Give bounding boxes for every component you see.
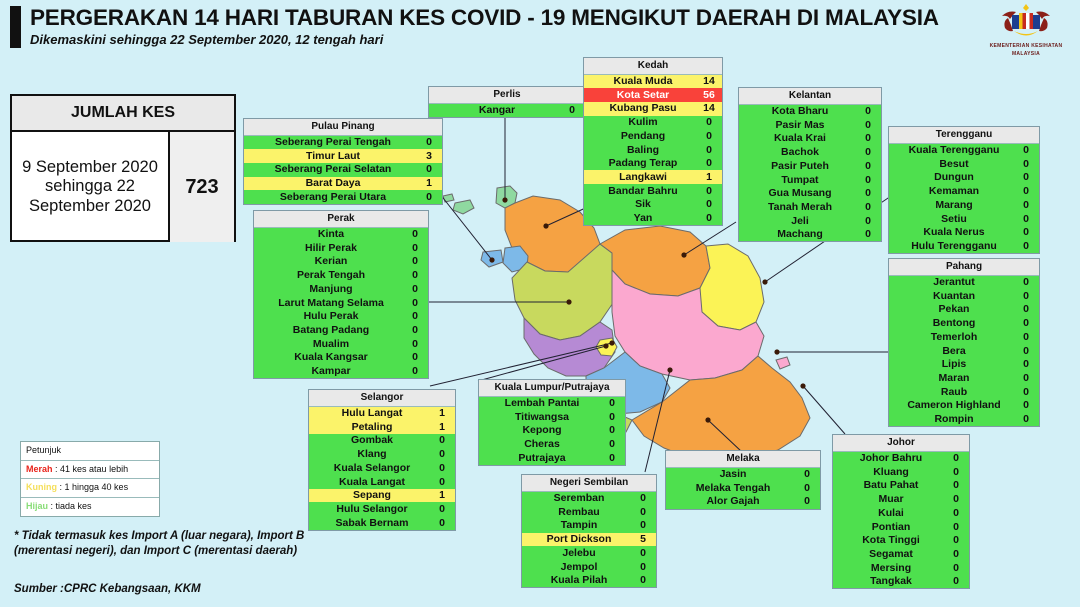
state-table-header: Perlis — [429, 87, 585, 104]
footnote-text: * Tidak termasuk kes Import A (luar nega… — [14, 529, 334, 558]
district-name: Hilir Perak — [254, 243, 402, 254]
district-case-count: 0 — [1013, 332, 1039, 343]
district-row: Padang Terap0 — [584, 157, 722, 171]
district-name: Mualim — [254, 339, 402, 350]
state-table-kuala-lumpur: Kuala Lumpur/PutrajayaLembah Pantai0Titi… — [478, 379, 626, 466]
leader-dot-pulau-pinang — [489, 257, 494, 262]
district-case-count: 0 — [943, 453, 969, 464]
district-name: Alor Gajah — [666, 496, 794, 507]
district-name: Kuala Muda — [584, 76, 696, 87]
legend-text-kuning: : 1 hingga 40 kes — [60, 482, 129, 492]
leader-dot-kuala-lumpur — [603, 343, 608, 348]
district-row: Kuala Langat0 — [309, 475, 455, 489]
district-case-count: 3 — [416, 151, 442, 162]
district-name: Yan — [584, 213, 696, 224]
district-row: Timur Laut3 — [244, 149, 442, 163]
district-case-count: 0 — [630, 575, 656, 586]
district-name: Pekan — [889, 304, 1013, 315]
district-row: Batang Padang0 — [254, 323, 428, 337]
district-name: Lipis — [889, 359, 1013, 370]
district-row: Langkawi1 — [584, 170, 722, 184]
map-region-pahang — [612, 270, 764, 380]
district-case-count: 0 — [1013, 304, 1039, 315]
district-case-count: 0 — [1013, 400, 1039, 411]
district-case-count: 0 — [429, 435, 455, 446]
district-row: Perak Tengah0 — [254, 269, 428, 283]
district-case-count: 0 — [943, 494, 969, 505]
district-case-count: 1 — [429, 422, 455, 433]
district-row: Lipis0 — [889, 358, 1039, 372]
source-text: Sumber :CPRC Kebangsaan, KKM — [14, 583, 201, 595]
district-row: Kulim0 — [584, 116, 722, 130]
district-name: Langkawi — [584, 172, 696, 183]
district-name: Jelebu — [522, 548, 630, 559]
leader-dot-pahang — [774, 349, 779, 354]
district-row: Kuala Kangsar0 — [254, 351, 428, 365]
leader-dot-perak — [566, 299, 571, 304]
district-name: Muar — [833, 494, 943, 505]
district-row: Batu Pahat0 — [833, 479, 969, 493]
district-row: Larut Matang Selama0 — [254, 296, 428, 310]
district-name: Rembau — [522, 507, 630, 518]
total-cases-title: JUMLAH KES — [12, 96, 234, 132]
district-name: Bandar Bahru — [584, 186, 696, 197]
district-row: Alor Gajah0 — [666, 495, 820, 509]
map-region-johor — [632, 356, 810, 462]
district-case-count: 0 — [943, 576, 969, 587]
leader-dot-selangor — [609, 340, 614, 345]
state-table-selangor: SelangorHulu Langat1Petaling1Gombak0Klan… — [308, 389, 456, 531]
district-case-count: 0 — [429, 463, 455, 474]
state-table-perlis: PerlisKangar0 — [428, 86, 586, 118]
state-table-terengganu: TerengganuKuala Terengganu0Besut0Dungun0… — [888, 126, 1040, 254]
district-case-count: 0 — [1013, 277, 1039, 288]
state-table-pulau-pinang: Pulau PinangSeberang Perai Tengah0Timur … — [243, 118, 443, 205]
district-name: Kemaman — [889, 186, 1013, 197]
district-row: Hulu Terengganu0 — [889, 239, 1039, 253]
district-name: Kuala Pilah — [522, 575, 630, 586]
district-row: Tangkak0 — [833, 575, 969, 589]
district-name: Maran — [889, 373, 1013, 384]
district-case-count: 1 — [416, 178, 442, 189]
leader-pulau-pinang — [436, 189, 492, 260]
district-case-count: 0 — [599, 412, 625, 423]
leader-dot-negeri-sembilan — [667, 367, 672, 372]
district-case-count: 0 — [630, 548, 656, 559]
district-case-count: 0 — [794, 496, 820, 507]
district-name: Klang — [309, 449, 429, 460]
district-case-count: 0 — [402, 284, 428, 295]
state-table-header: Melaka — [666, 451, 820, 468]
leader-melaka — [708, 420, 742, 452]
district-case-count: 0 — [943, 535, 969, 546]
district-row: Marang0 — [889, 198, 1039, 212]
district-case-count: 0 — [1013, 359, 1039, 370]
district-name: Timur Laut — [244, 151, 416, 162]
map-region-terengganu — [698, 244, 764, 330]
leader-kelantan — [684, 222, 736, 255]
district-row: Sabak Bernam0 — [309, 516, 455, 530]
district-case-count: 0 — [1013, 241, 1039, 252]
legend-swatch-merah: Merah — [26, 464, 53, 474]
district-name: Pendang — [584, 131, 696, 142]
district-name: Kuala Langat — [309, 477, 429, 488]
district-row: Muar0 — [833, 493, 969, 507]
district-row: Jelebu0 — [522, 546, 656, 560]
district-case-count: 0 — [855, 216, 881, 227]
district-name: Rompin — [889, 414, 1013, 425]
legend-text-hijau: : tiada kes — [51, 501, 92, 511]
district-case-count: 0 — [402, 270, 428, 281]
district-row: Kota Setar56 — [584, 88, 722, 102]
district-row: Seremban0 — [522, 492, 656, 506]
legend-title: Petunjuk — [21, 442, 159, 461]
district-case-count: 0 — [402, 339, 428, 350]
district-row: Kerian0 — [254, 255, 428, 269]
district-name: Kuala Nerus — [889, 227, 1013, 238]
district-case-count: 0 — [943, 480, 969, 491]
total-cases-value: 723 — [168, 132, 234, 242]
district-name: Petaling — [309, 422, 429, 433]
legend-item-kuning: Kuning : 1 hingga 40 kes — [21, 479, 159, 498]
district-case-count: 0 — [1013, 414, 1039, 425]
district-case-count: 0 — [416, 192, 442, 203]
state-table-melaka: MelakaJasin0Melaka Tengah0Alor Gajah0 — [665, 450, 821, 510]
legend-box: Petunjuk Merah : 41 kes atau lebih Kunin… — [20, 441, 160, 517]
district-case-count: 14 — [696, 76, 722, 87]
legend-swatch-kuning: Kuning — [26, 482, 57, 492]
district-case-count: 0 — [943, 549, 969, 560]
district-case-count: 0 — [402, 352, 428, 363]
district-row: Putrajaya0 — [479, 451, 625, 465]
district-name: Raub — [889, 387, 1013, 398]
district-case-count: 0 — [402, 256, 428, 267]
district-name: Jempol — [522, 562, 630, 573]
district-case-count: 0 — [1013, 373, 1039, 384]
district-row: Melaka Tengah0 — [666, 481, 820, 495]
district-row: Tampin0 — [522, 519, 656, 533]
leader-dot-kedah — [543, 223, 548, 228]
district-row: Rompin0 — [889, 412, 1039, 426]
district-name: Sabak Bernam — [309, 518, 429, 529]
district-case-count: 0 — [630, 562, 656, 573]
district-name: Hulu Perak — [254, 311, 402, 322]
district-name: Batu Pahat — [833, 480, 943, 491]
legend-item-hijau: Hijau : tiada kes — [21, 498, 159, 516]
district-name: Lembah Pantai — [479, 398, 599, 409]
district-row: Kota Tinggi0 — [833, 534, 969, 548]
district-row: Kota Bharu0 — [739, 105, 881, 119]
district-row: Jeli0 — [739, 214, 881, 228]
district-name: Hulu Selangor — [309, 504, 429, 515]
district-row: Cameron Highland0 — [889, 399, 1039, 413]
district-name: Jeli — [739, 216, 855, 227]
moh-malaysia-emblem: KEMENTERIAN KESIHATAN MALAYSIA — [978, 2, 1074, 58]
district-case-count: 0 — [1013, 186, 1039, 197]
district-name: Kulim — [584, 117, 696, 128]
map-region-pulau-pinang — [503, 246, 528, 272]
district-case-count: 5 — [630, 534, 656, 545]
district-row: Seberang Perai Selatan0 — [244, 163, 442, 177]
district-row: Manjung0 — [254, 282, 428, 296]
district-row: Bentong0 — [889, 317, 1039, 331]
emblem-caption-line2: MALAYSIA — [1012, 51, 1040, 58]
district-case-count: 0 — [943, 508, 969, 519]
district-row: Temerloh0 — [889, 330, 1039, 344]
district-name: Seberang Perai Selatan — [244, 164, 416, 175]
district-name: Kota Tinggi — [833, 535, 943, 546]
district-row: Mualim0 — [254, 337, 428, 351]
district-row: Kubang Pasu14 — [584, 102, 722, 116]
district-case-count: 1 — [429, 490, 455, 501]
district-row: Kangar0 — [429, 104, 585, 118]
state-table-header: Johor — [833, 435, 969, 452]
district-name: Marang — [889, 200, 1013, 211]
district-row: Cheras0 — [479, 438, 625, 452]
district-name: Setiu — [889, 214, 1013, 225]
map-region-selangor — [524, 318, 615, 376]
district-row: Bera0 — [889, 344, 1039, 358]
district-case-count: 0 — [429, 504, 455, 515]
district-case-count: 0 — [696, 186, 722, 197]
state-table-kelantan: KelantanKota Bharu0Pasir Mas0Kuala Krai0… — [738, 87, 882, 242]
state-table-kedah: KedahKuala Muda14Kota Setar56Kubang Pasu… — [583, 57, 723, 226]
district-case-count: 0 — [599, 453, 625, 464]
district-case-count: 0 — [943, 467, 969, 478]
district-row: Setiu0 — [889, 212, 1039, 226]
district-row: Seberang Perai Tengah0 — [244, 136, 442, 150]
district-name: Port Dickson — [522, 534, 630, 545]
district-name: Kubang Pasu — [584, 103, 696, 114]
district-row: Bachok0 — [739, 146, 881, 160]
leader-dot-johor — [800, 383, 805, 388]
district-case-count: 0 — [1013, 145, 1039, 156]
district-row: Hulu Perak0 — [254, 310, 428, 324]
district-row: Kuantan0 — [889, 289, 1039, 303]
district-row: Kuala Pilah0 — [522, 574, 656, 588]
district-row: Petaling1 — [309, 420, 455, 434]
district-name: Kampar — [254, 366, 402, 377]
district-name: Bera — [889, 346, 1013, 357]
district-name: Bentong — [889, 318, 1013, 329]
district-case-count: 0 — [696, 158, 722, 169]
district-name: Barat Daya — [244, 178, 416, 189]
page-title: PERGERAKAN 14 HARI TABURAN KES COVID - 1… — [30, 5, 939, 31]
district-name: Padang Terap — [584, 158, 696, 169]
district-case-count: 0 — [429, 518, 455, 529]
district-case-count: 0 — [1013, 346, 1039, 357]
district-name: Cameron Highland — [889, 400, 1013, 411]
district-name: Kluang — [833, 467, 943, 478]
total-cases-box: JUMLAH KES 9 September 2020 sehingga 22 … — [10, 94, 236, 242]
district-case-count: 1 — [429, 408, 455, 419]
district-case-count: 0 — [943, 522, 969, 533]
district-row: Barat Daya1 — [244, 177, 442, 191]
district-row: Seberang Perai Utara0 — [244, 190, 442, 204]
district-case-count: 0 — [1013, 214, 1039, 225]
district-name: Kota Bharu — [739, 106, 855, 117]
district-case-count: 0 — [599, 439, 625, 450]
district-name: Kuantan — [889, 291, 1013, 302]
district-case-count: 0 — [599, 398, 625, 409]
district-case-count: 0 — [855, 106, 881, 117]
district-row: Jempol0 — [522, 560, 656, 574]
district-row: Rembau0 — [522, 505, 656, 519]
district-name: Batang Padang — [254, 325, 402, 336]
district-row: Kluang0 — [833, 465, 969, 479]
district-name: Jerantut — [889, 277, 1013, 288]
district-name: Titiwangsa — [479, 412, 599, 423]
leader-kuala-lumpur — [478, 346, 606, 381]
district-row: Hilir Perak0 — [254, 241, 428, 255]
title-accent-bar — [10, 6, 21, 48]
district-name: Pontian — [833, 522, 943, 533]
district-name: Putrajaya — [479, 453, 599, 464]
district-case-count: 0 — [1013, 387, 1039, 398]
district-name: Perak Tengah — [254, 270, 402, 281]
district-case-count: 0 — [1013, 318, 1039, 329]
district-row: Kulai0 — [833, 506, 969, 520]
page-subtitle: Dikemaskini sehingga 22 September 2020, … — [30, 32, 383, 47]
state-table-header: Negeri Sembilan — [522, 475, 656, 492]
district-case-count: 0 — [855, 133, 881, 144]
district-case-count: 0 — [1013, 172, 1039, 183]
legend-text-merah: : 41 kes atau lebih — [55, 464, 128, 474]
district-name: Jasin — [666, 469, 794, 480]
leader-dot-melaka — [705, 417, 710, 422]
district-row: Besut0 — [889, 157, 1039, 171]
district-case-count: 0 — [416, 137, 442, 148]
district-row: Bandar Bahru0 — [584, 184, 722, 198]
district-case-count: 14 — [696, 103, 722, 114]
district-case-count: 0 — [416, 164, 442, 175]
state-table-header: Selangor — [309, 390, 455, 407]
district-row: Kinta0 — [254, 228, 428, 242]
district-name: Machang — [739, 229, 855, 240]
map-region-perlis — [496, 186, 517, 208]
district-row: Lembah Pantai0 — [479, 397, 625, 411]
map-region-pulau-pinang-island — [481, 250, 503, 267]
district-case-count: 0 — [1013, 200, 1039, 211]
district-name: Kuala Kangsar — [254, 352, 402, 363]
district-name: Seremban — [522, 493, 630, 504]
district-row: Klang0 — [309, 448, 455, 462]
district-row: Tanah Merah0 — [739, 200, 881, 214]
district-case-count: 0 — [794, 469, 820, 480]
district-name: Bachok — [739, 147, 855, 158]
district-name: Kerian — [254, 256, 402, 267]
district-name: Tumpat — [739, 175, 855, 186]
district-case-count: 0 — [855, 202, 881, 213]
district-case-count: 0 — [696, 145, 722, 156]
district-case-count: 0 — [855, 175, 881, 186]
state-table-header: Kelantan — [739, 88, 881, 105]
district-case-count: 0 — [794, 483, 820, 494]
map-region-kelantan — [600, 226, 710, 296]
district-case-count: 0 — [630, 493, 656, 504]
district-row: Gombak0 — [309, 434, 455, 448]
district-row: Port Dickson5 — [522, 533, 656, 547]
total-cases-body: 9 September 2020 sehingga 22 September 2… — [12, 132, 234, 242]
coat-of-arms-icon — [994, 2, 1058, 42]
district-name: Larut Matang Selama — [254, 298, 402, 309]
district-row: Yan0 — [584, 211, 722, 225]
district-case-count: 0 — [630, 507, 656, 518]
district-row: Kemaman0 — [889, 185, 1039, 199]
district-row: Machang0 — [739, 228, 881, 242]
emblem-caption-line1: KEMENTERIAN KESIHATAN — [990, 43, 1063, 50]
district-case-count: 0 — [402, 325, 428, 336]
state-table-header: Perak — [254, 211, 428, 228]
district-row: Jerantut0 — [889, 276, 1039, 290]
district-name: Kuala Krai — [739, 133, 855, 144]
district-case-count: 0 — [943, 563, 969, 574]
district-name: Temerloh — [889, 332, 1013, 343]
district-name: Kuala Selangor — [309, 463, 429, 474]
district-name: Hulu Langat — [309, 408, 429, 419]
district-case-count: 0 — [696, 117, 722, 128]
district-row: Pontian0 — [833, 520, 969, 534]
district-case-count: 0 — [855, 188, 881, 199]
district-name: Kulai — [833, 508, 943, 519]
district-name: Melaka Tengah — [666, 483, 794, 494]
legend-item-merah: Merah : 41 kes atau lebih — [21, 461, 159, 480]
district-case-count: 0 — [855, 120, 881, 131]
district-row: Titiwangsa0 — [479, 410, 625, 424]
district-case-count: 1 — [696, 172, 722, 183]
district-name: Hulu Terengganu — [889, 241, 1013, 252]
district-case-count: 0 — [1013, 159, 1039, 170]
district-row: Pendang0 — [584, 129, 722, 143]
district-case-count: 0 — [559, 105, 585, 116]
district-row: Jasin0 — [666, 468, 820, 482]
map-region-langkawi — [453, 200, 474, 214]
district-case-count: 0 — [696, 199, 722, 210]
state-table-header: Pulau Pinang — [244, 119, 442, 136]
district-row: Kuala Selangor0 — [309, 461, 455, 475]
district-name: Tanah Merah — [739, 202, 855, 213]
district-case-count: 0 — [402, 311, 428, 322]
district-name: Sepang — [309, 490, 429, 501]
district-case-count: 0 — [402, 243, 428, 254]
total-cases-period: 9 September 2020 sehingga 22 September 2… — [12, 132, 168, 242]
district-name: Kinta — [254, 229, 402, 240]
district-case-count: 0 — [402, 366, 428, 377]
leader-dot-kelantan — [681, 252, 686, 257]
district-row: Maran0 — [889, 371, 1039, 385]
district-name: Baling — [584, 145, 696, 156]
map-region-pahang-isle — [776, 357, 790, 369]
district-name: Gua Musang — [739, 188, 855, 199]
district-name: Seberang Perai Utara — [244, 192, 416, 203]
district-name: Pasir Puteh — [739, 161, 855, 172]
district-name: Kangar — [429, 105, 559, 116]
district-case-count: 0 — [599, 425, 625, 436]
district-case-count: 0 — [1013, 291, 1039, 302]
leader-dot-perlis — [502, 197, 507, 202]
district-name: Manjung — [254, 284, 402, 295]
district-name: Besut — [889, 159, 1013, 170]
district-name: Kota Setar — [584, 90, 696, 101]
district-row: Hulu Langat1 — [309, 407, 455, 421]
district-case-count: 0 — [855, 147, 881, 158]
state-table-header: Kedah — [584, 58, 722, 75]
district-row: Baling0 — [584, 143, 722, 157]
district-name: Kuala Terengganu — [889, 145, 1013, 156]
district-row: Tumpat0 — [739, 173, 881, 187]
district-row: Kepong0 — [479, 424, 625, 438]
district-case-count: 0 — [429, 477, 455, 488]
